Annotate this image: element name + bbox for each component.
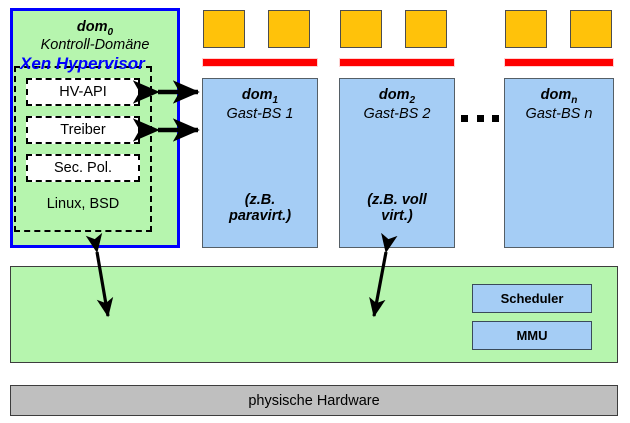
guest-domain-1: dom1 Gast-BS 1 (z.B. paravirt.) <box>202 78 318 248</box>
control-domain-title: dom0 <box>13 19 177 39</box>
app-box-domn-1[interactable] <box>505 10 547 48</box>
component-hv-api-label: HV-API <box>59 84 107 100</box>
component-hv-api[interactable]: HV-API <box>26 78 140 106</box>
guest-domain-2-note: (z.B. voll virt.) <box>340 192 454 225</box>
ellipsis-indicator <box>461 112 499 124</box>
component-treiber-label: Treiber <box>60 122 105 138</box>
ellipsis-dot-2 <box>477 115 484 122</box>
ellipsis-dot-1 <box>461 115 468 122</box>
guest-domain-2-name: dom <box>379 87 410 103</box>
syscall-bar-domn <box>504 58 614 67</box>
control-domain-name: dom <box>77 19 108 35</box>
app-box-dom2-1[interactable] <box>340 10 382 48</box>
guest-domain-1-title: dom1 <box>203 87 317 106</box>
hypervisor-module-scheduler[interactable]: Scheduler <box>472 284 592 313</box>
guest-domain-n-title: domn <box>505 87 613 106</box>
guest-domain-1-subtitle: Gast-BS 1 <box>203 106 317 122</box>
guest-domain-1-index: 1 <box>273 95 279 106</box>
guest-domain-n-index: n <box>571 95 577 106</box>
guest-domain-2-subtitle: Gast-BS 2 <box>340 106 454 122</box>
ellipsis-dot-3 <box>492 115 499 122</box>
hypervisor-title: Xen Hypervisor <box>20 54 145 74</box>
hypervisor-module-scheduler-label: Scheduler <box>501 291 564 306</box>
syscall-bar-dom1 <box>202 58 318 67</box>
syscall-bar-dom2 <box>339 58 455 67</box>
component-sec-pol-label: Sec. Pol. <box>54 160 112 176</box>
guest-domain-n: domn Gast-BS n <box>504 78 614 248</box>
guest-domain-2: dom2 Gast-BS 2 (z.B. voll virt.) <box>339 78 455 248</box>
app-box-dom1-1[interactable] <box>203 10 245 48</box>
guest-domain-1-note: (z.B. paravirt.) <box>203 192 317 225</box>
hardware-label: physische Hardware <box>248 393 379 409</box>
guest-domain-1-name: dom <box>242 87 273 103</box>
control-domain-os-label: Linux, BSD <box>14 196 152 212</box>
component-treiber[interactable]: Treiber <box>26 116 140 144</box>
guest-domain-2-title: dom2 <box>340 87 454 106</box>
hardware-box: physische Hardware <box>10 385 618 416</box>
guest-domain-2-index: 2 <box>410 95 416 106</box>
diagram-canvas: dom0 Kontroll-Domäne HV-API Treiber Sec.… <box>0 0 630 423</box>
control-domain-subtitle: Kontroll-Domäne <box>13 37 177 53</box>
app-box-dom2-2[interactable] <box>405 10 447 48</box>
app-box-dom1-2[interactable] <box>268 10 310 48</box>
guest-domain-n-subtitle: Gast-BS n <box>505 106 613 122</box>
component-sec-pol[interactable]: Sec. Pol. <box>26 154 140 182</box>
guest-domain-n-name: dom <box>541 87 572 103</box>
app-box-domn-2[interactable] <box>570 10 612 48</box>
hypervisor-module-mmu[interactable]: MMU <box>472 321 592 350</box>
hypervisor-module-mmu-label: MMU <box>516 328 547 343</box>
